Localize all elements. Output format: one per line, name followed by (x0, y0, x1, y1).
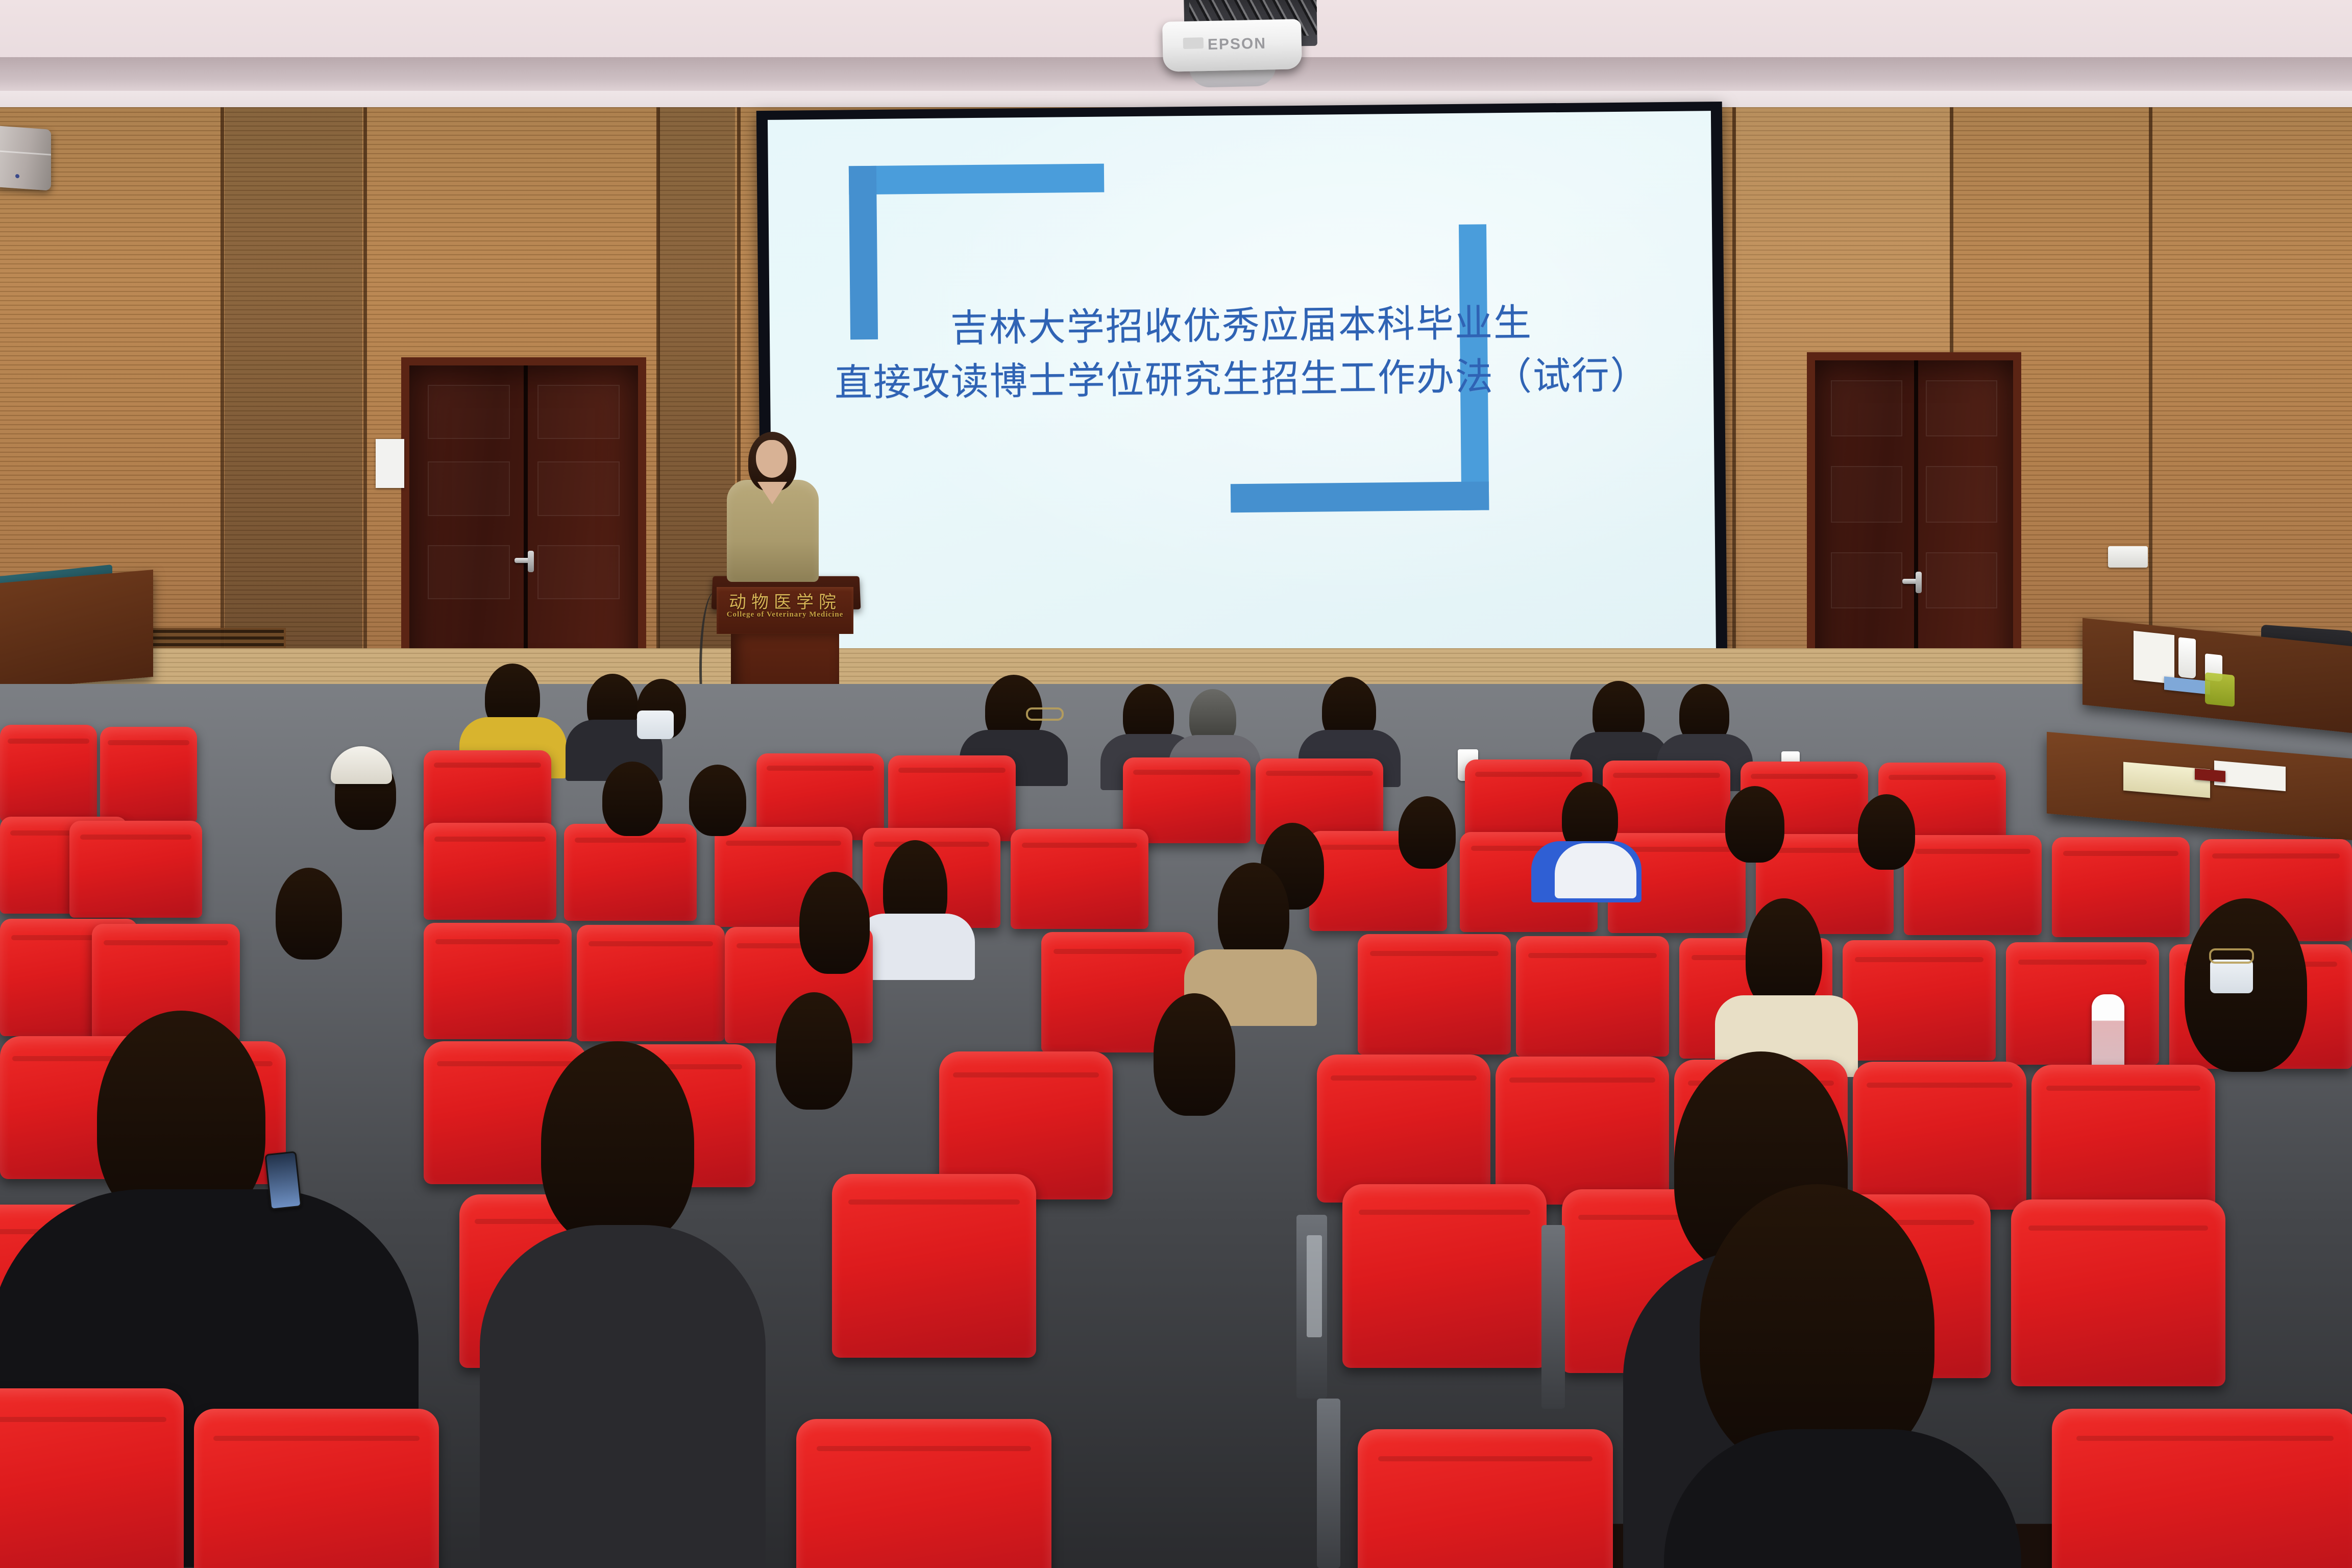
seat[interactable] (1358, 934, 1511, 1055)
door-panel (537, 545, 620, 600)
door-leaf-split (524, 365, 528, 686)
seat[interactable] (2052, 1409, 2352, 1568)
door-panel (537, 385, 620, 439)
audience-person (276, 868, 342, 960)
door-panel (537, 461, 620, 516)
aisle-light (1307, 1235, 1322, 1337)
audience-person (1399, 796, 1456, 869)
audience-person (541, 1041, 694, 1245)
door-panel (1926, 380, 1997, 436)
seat[interactable] (1317, 1055, 1490, 1203)
seat[interactable] (1342, 1184, 1547, 1368)
face-mask (637, 710, 674, 739)
seat[interactable] (1843, 940, 1996, 1061)
audience-person (1746, 898, 1822, 1011)
seat[interactable] (1516, 936, 1669, 1057)
seat[interactable] (1358, 1429, 1613, 1568)
slide-bracket-top-left-horizontal (849, 164, 1105, 195)
slide-title-line-1: 吉林大学招收优秀应届本科毕业生 (769, 295, 1713, 357)
smartphone[interactable] (264, 1151, 302, 1210)
audience-person (776, 992, 852, 1110)
seat[interactable] (796, 1419, 1051, 1568)
tissue-box (2134, 631, 2174, 684)
seat-armrest (1541, 1225, 1565, 1409)
door-panel (1926, 552, 1997, 608)
audience-person (855, 914, 975, 980)
seat[interactable] (2031, 1065, 2215, 1216)
door-panel (428, 385, 510, 439)
eyeglasses (2209, 948, 2254, 964)
audience-person (1858, 794, 1915, 870)
seat[interactable] (194, 1409, 439, 1568)
door-panel (1926, 466, 1997, 522)
water-bottle (2092, 994, 2124, 1071)
seat[interactable] (0, 1388, 184, 1568)
audience-person-hood (1555, 843, 1636, 898)
tea-jar (2205, 672, 2235, 707)
seat[interactable] (1904, 835, 2042, 935)
audience-person (480, 1225, 766, 1568)
slide-bracket-bottom-right-horizontal (1231, 481, 1489, 512)
seat[interactable] (577, 925, 725, 1041)
seat[interactable] (564, 824, 697, 921)
seat[interactable] (2052, 837, 2190, 937)
projection-screen: 吉林大学招收优秀应届本科毕业生 直接攻读博士学位研究生招生工作办法（试行） (768, 111, 1716, 659)
seat[interactable] (1496, 1057, 1669, 1205)
seat[interactable] (0, 725, 97, 822)
seat[interactable] (832, 1174, 1036, 1358)
audience-person (689, 765, 746, 836)
projector-brand-label: EPSON (1208, 35, 1267, 54)
audience-person (1700, 1184, 1934, 1470)
seat[interactable] (2006, 942, 2159, 1065)
seat[interactable] (424, 823, 556, 920)
podium-name-en: College of Veterinary Medicine (717, 610, 853, 619)
face-mask (2210, 960, 2253, 993)
projector: EPSON (1162, 19, 1302, 72)
wall-speaker-icon (0, 126, 51, 191)
eyeglasses (1026, 707, 1064, 721)
audience-person (1154, 993, 1235, 1116)
projection-screen-frame: 吉林大学招收优秀应届本科毕业生 直接攻读博士学位研究生招生工作办法（试行） (756, 102, 1727, 670)
door-handle-icon[interactable] (514, 558, 532, 563)
seat[interactable] (424, 923, 572, 1039)
auditorium-scene: EPSON 吉林大学招收优秀应届本科毕业生 直接攻读博士学位研究生招生工作办法（… (0, 0, 2352, 1568)
podium-name-cn: 动物医学院 (717, 588, 853, 613)
seat[interactable] (2011, 1199, 2225, 1386)
presenter-head (756, 440, 788, 478)
door-panel (428, 461, 510, 516)
audience-person (1725, 786, 1784, 863)
seat[interactable] (1011, 829, 1148, 929)
wall-socket-icon[interactable] (2108, 546, 2148, 568)
door-leaf-split (1914, 360, 1918, 691)
door-left[interactable] (401, 357, 646, 694)
door-notice-sign (376, 439, 404, 488)
door-panel (428, 545, 510, 600)
paper-cup (2178, 637, 2196, 679)
seat-leg (1317, 1399, 1340, 1568)
slide-title-line-2: 直接攻读博士学位研究生招生工作办法（试行） (770, 348, 1713, 411)
seat[interactable] (69, 821, 202, 918)
slide-title: 吉林大学招收优秀应届本科毕业生 直接攻读博士学位研究生招生工作办法（试行） (769, 295, 1713, 411)
audience-person (602, 762, 663, 836)
audience-person (799, 872, 870, 974)
door-right[interactable] (1807, 352, 2021, 699)
seat[interactable] (1853, 1062, 2026, 1210)
seat[interactable] (100, 727, 197, 823)
door-panel (1831, 552, 1902, 608)
door-handle-icon[interactable] (1902, 579, 1920, 584)
door-panel (1831, 466, 1902, 522)
door-panel (1831, 380, 1902, 436)
av-console-desk (0, 570, 153, 691)
projector-ir-sensor-icon (1183, 37, 1204, 49)
speaker-led-icon (15, 174, 19, 179)
